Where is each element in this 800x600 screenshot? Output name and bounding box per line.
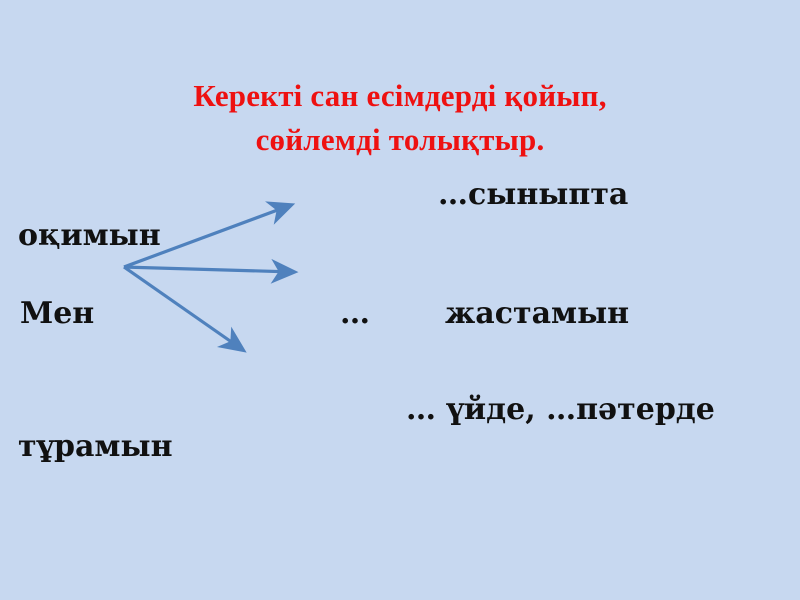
page-title: Керекті сан есімдерді қойып, сөйлемді то… xyxy=(0,74,800,162)
fragment-synypta: …сыныпта xyxy=(438,178,628,212)
arrow-down-right xyxy=(124,267,243,350)
fragment-okimyn: оқимын xyxy=(18,219,161,253)
arrow-right xyxy=(124,267,294,272)
page-title-line-1: Керекті сан есімдерді қойып, xyxy=(0,74,800,118)
fragment-uide-paterde: … үйде, …пәтерде xyxy=(406,393,715,427)
page-title-line-2: сөйлемді толықтыр. xyxy=(0,118,800,162)
fragment-men: Мен xyxy=(20,297,94,331)
fragment-ellipsis-middle: … xyxy=(340,297,370,331)
fragment-zhastamyn: жастамын xyxy=(445,297,629,331)
fragment-turamyn: тұрамын xyxy=(18,430,173,464)
slide-canvas: Керекті сан есімдерді қойып, сөйлемді то… xyxy=(0,0,800,600)
